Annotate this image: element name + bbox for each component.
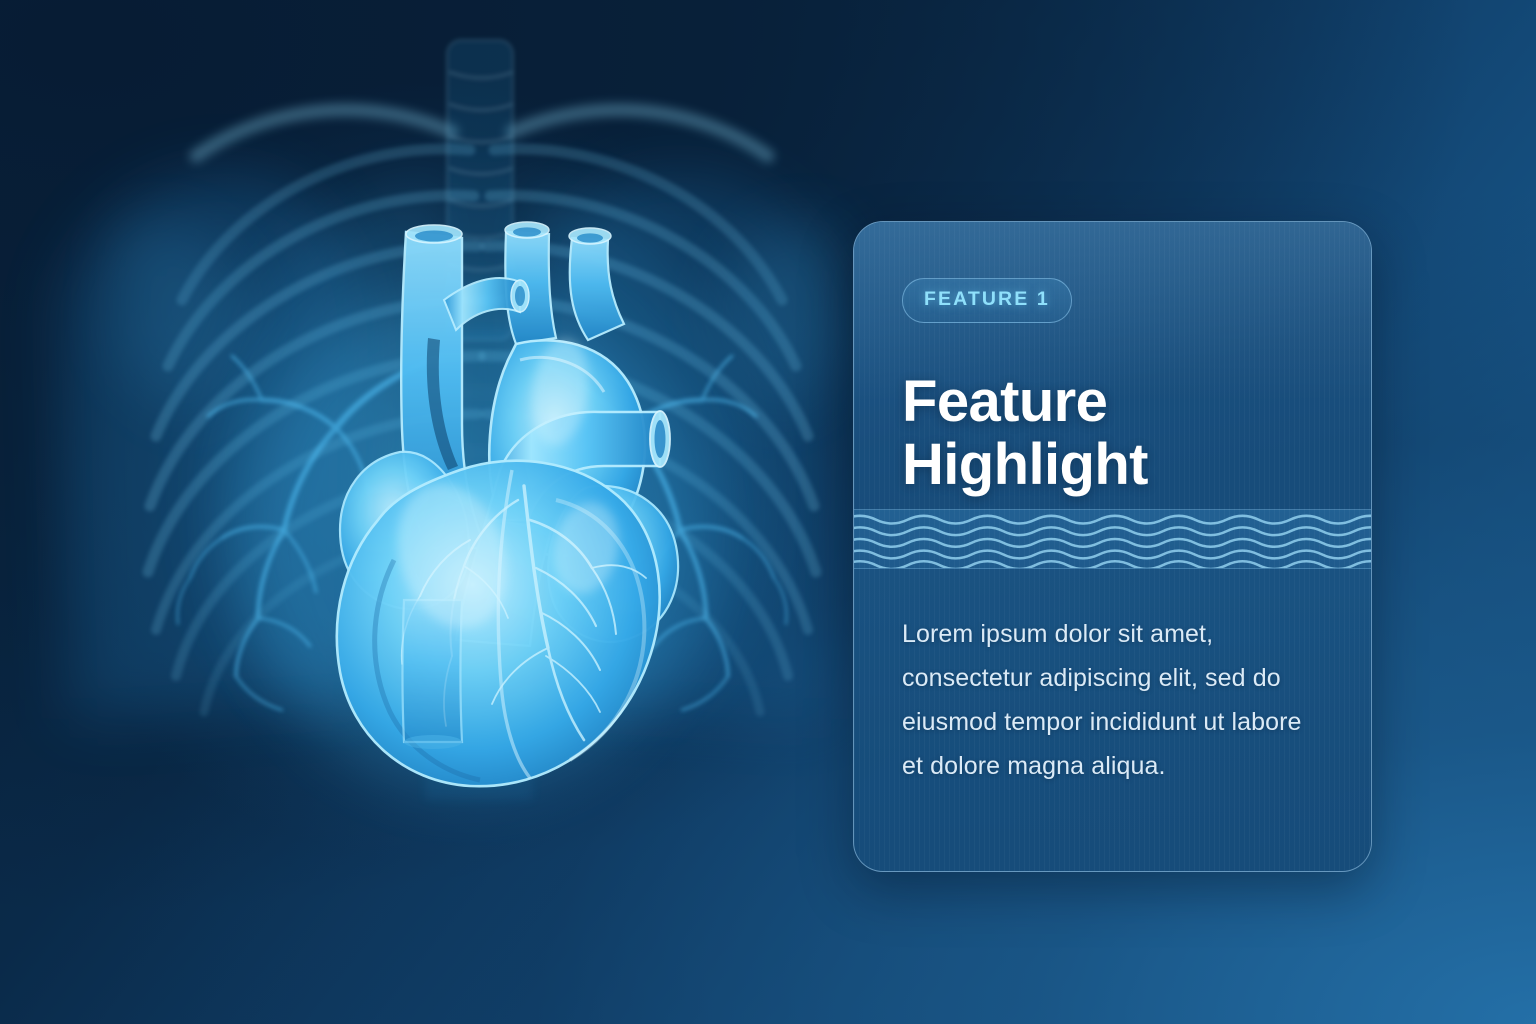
card-heading: Feature Highlight [902,370,1323,496]
card-heading-line1: Feature [902,370,1323,433]
feature-badge[interactable]: FEATURE 1 [902,278,1072,323]
card-heading-line2: Highlight [902,433,1323,496]
card-body-text: Lorem ipsum dolor sit amet, consectetur … [902,612,1327,788]
slide-canvas: FEATURE 1 Feature Highlight Lorem ipsum … [0,0,1536,1024]
human-heart-xray-illustration [0,0,900,1024]
feature-card[interactable]: FEATURE 1 Feature Highlight Lorem ipsum … [853,221,1372,872]
